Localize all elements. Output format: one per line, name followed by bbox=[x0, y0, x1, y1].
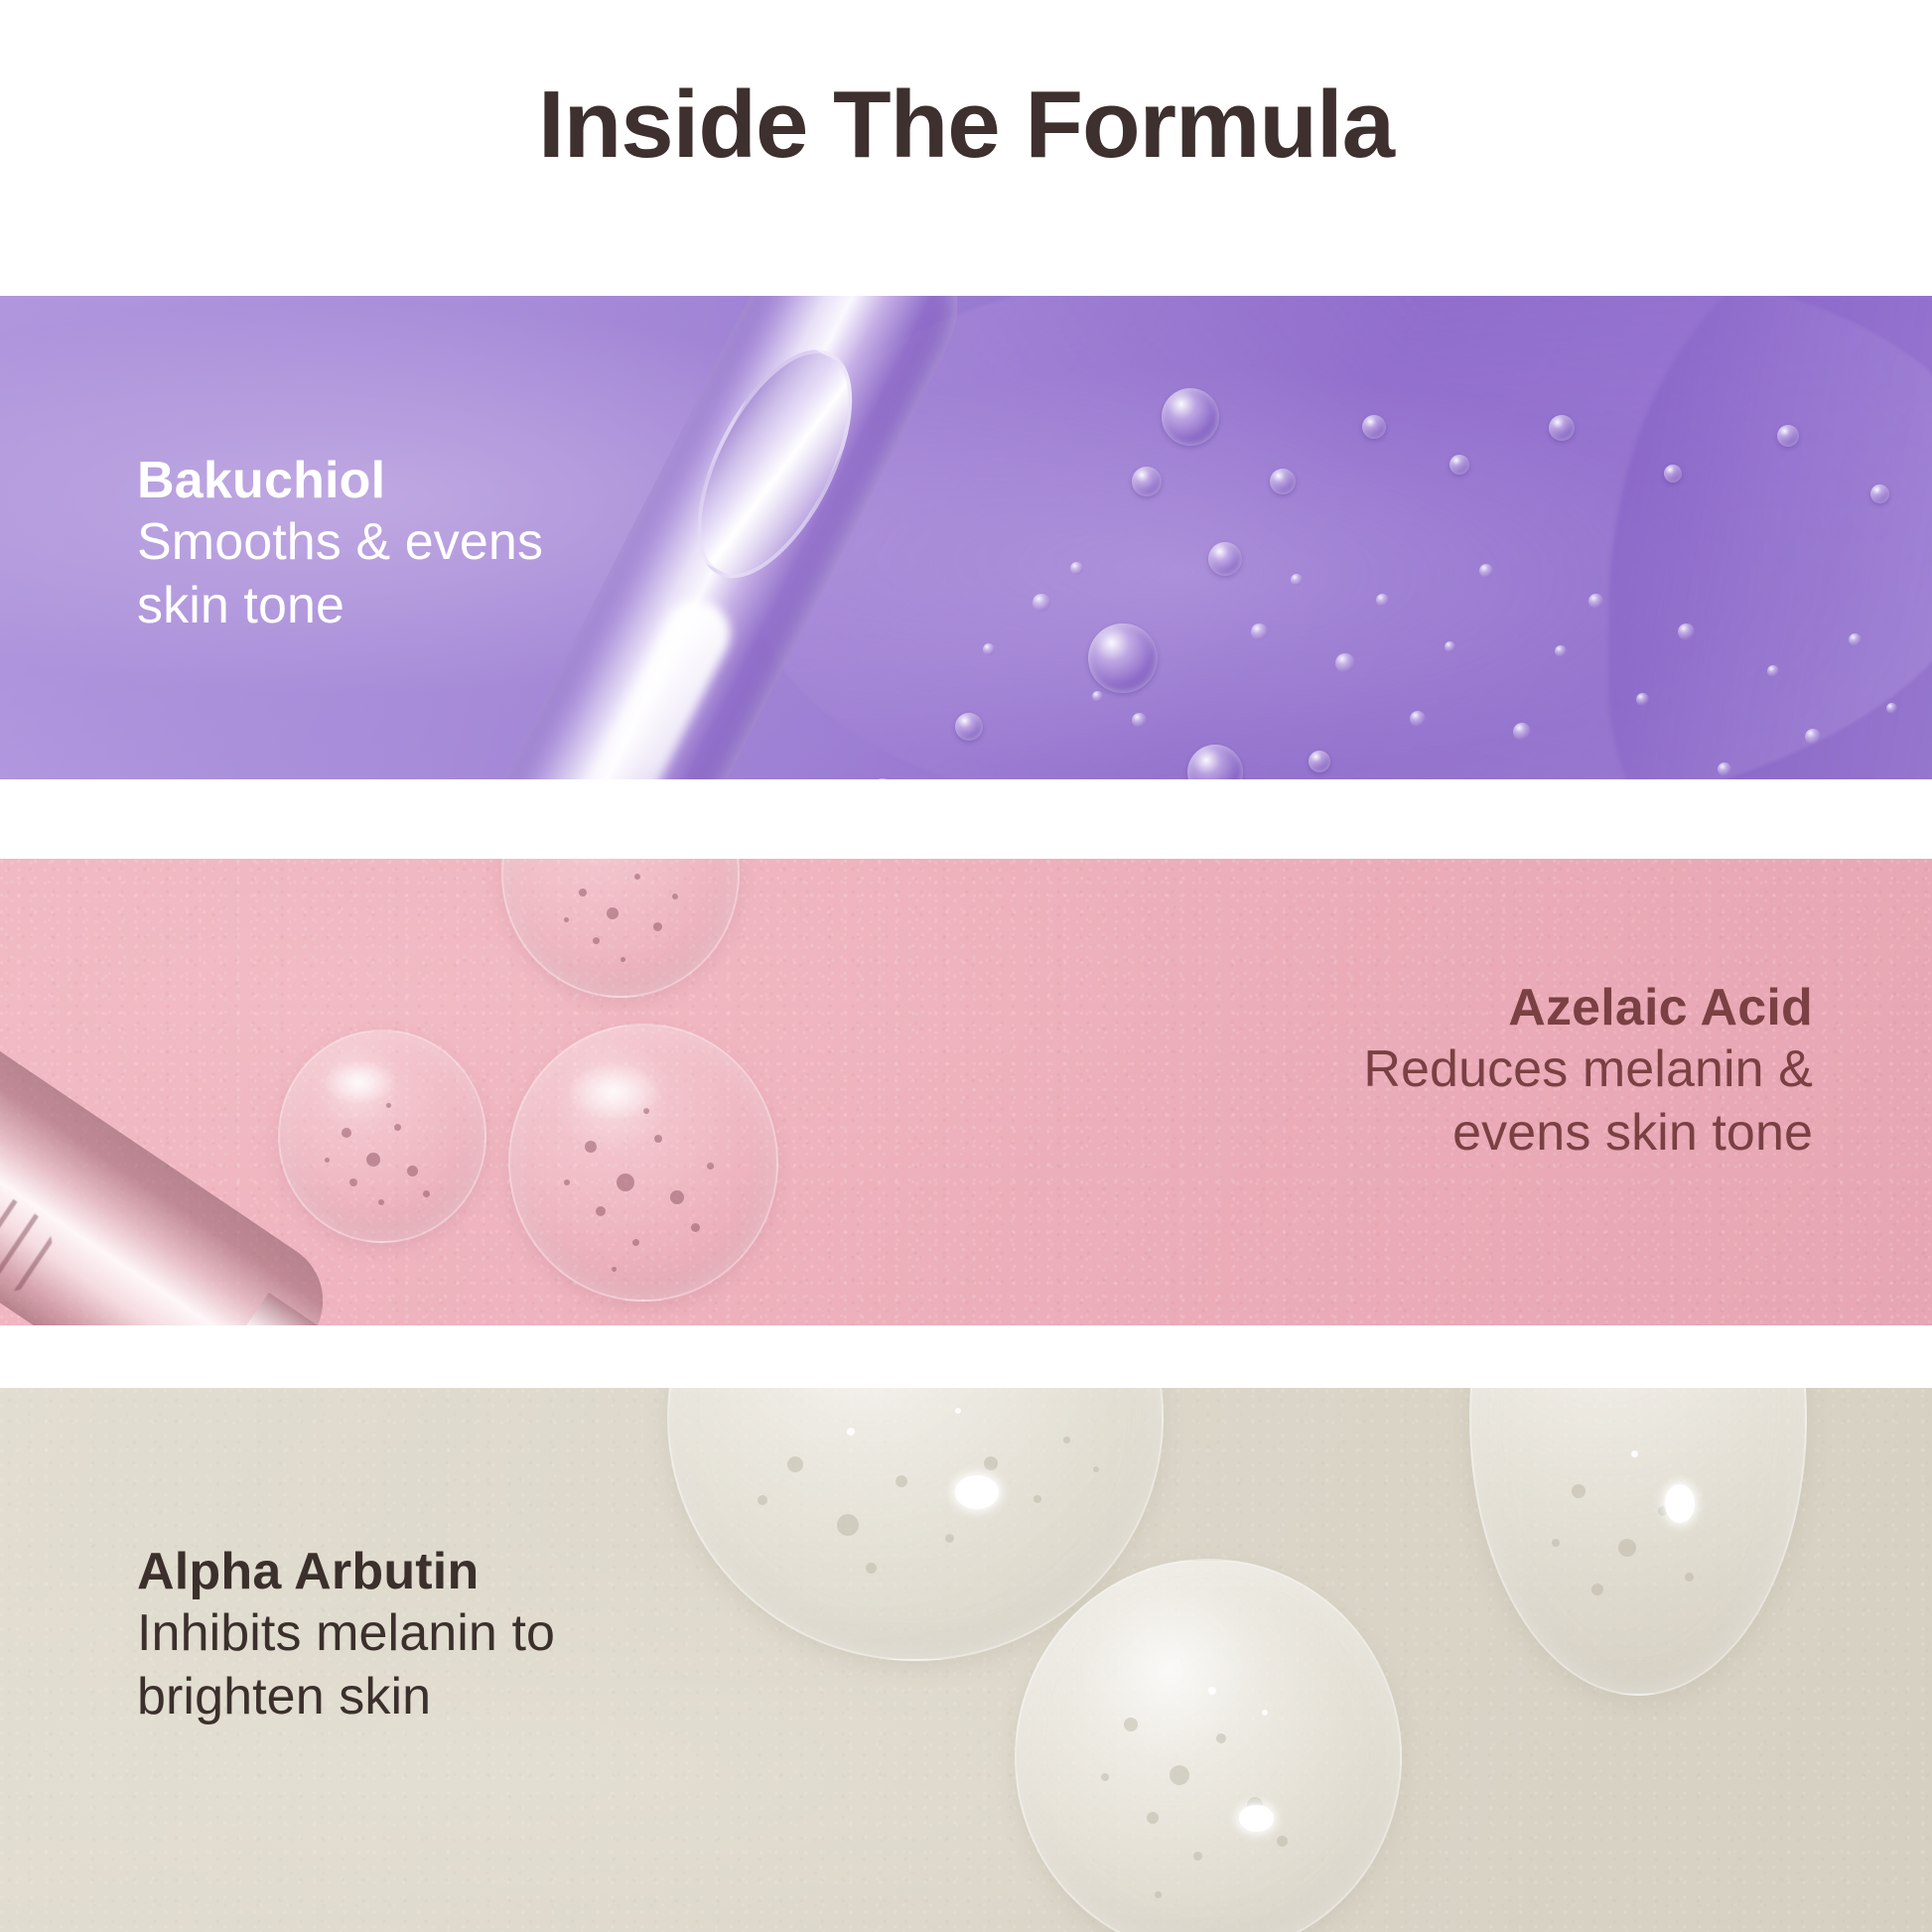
ingredient-name-bakuchiol: Bakuchiol bbox=[137, 451, 543, 511]
bakuchiol-text-block: Bakuchiol Smooths & evens skin tone bbox=[137, 451, 543, 637]
droplet-bubbles bbox=[510, 1026, 776, 1300]
ingredient-description-bakuchiol: Smooths & evens skin tone bbox=[137, 511, 543, 637]
ingredient-description-alpha-arbutin: Inhibits melanin to brighten skin bbox=[137, 1602, 555, 1728]
azelaic-acid-text-block: Azelaic Acid Reduces melanin & evens ski… bbox=[1363, 978, 1813, 1165]
alpha-arbutin-text-block: Alpha Arbutin Inhibits melanin to bright… bbox=[137, 1542, 555, 1728]
header: Inside The Formula bbox=[0, 0, 1932, 296]
ingredient-description-azelaic-acid: Reduces melanin & evens skin tone bbox=[1363, 1038, 1813, 1165]
ingredient-name-azelaic-acid: Azelaic Acid bbox=[1363, 978, 1813, 1038]
droplet-bubbles bbox=[1017, 1561, 1400, 1932]
page-title: Inside The Formula bbox=[0, 75, 1932, 176]
ingredient-band-alpha-arbutin: Alpha Arbutin Inhibits melanin to bright… bbox=[0, 1388, 1932, 1932]
droplet-bubbles bbox=[280, 1032, 484, 1241]
ingredient-name-alpha-arbutin: Alpha Arbutin bbox=[137, 1542, 555, 1602]
ingredient-band-azelaic-acid: Azelaic Acid Reduces melanin & evens ski… bbox=[0, 859, 1932, 1325]
gel-droplet-center bbox=[1015, 1559, 1402, 1932]
ingredient-band-bakuchiol: Bakuchiol Smooths & evens skin tone bbox=[0, 296, 1932, 779]
serum-droplet-medium bbox=[278, 1030, 486, 1243]
serum-droplet-largest bbox=[508, 1024, 778, 1302]
